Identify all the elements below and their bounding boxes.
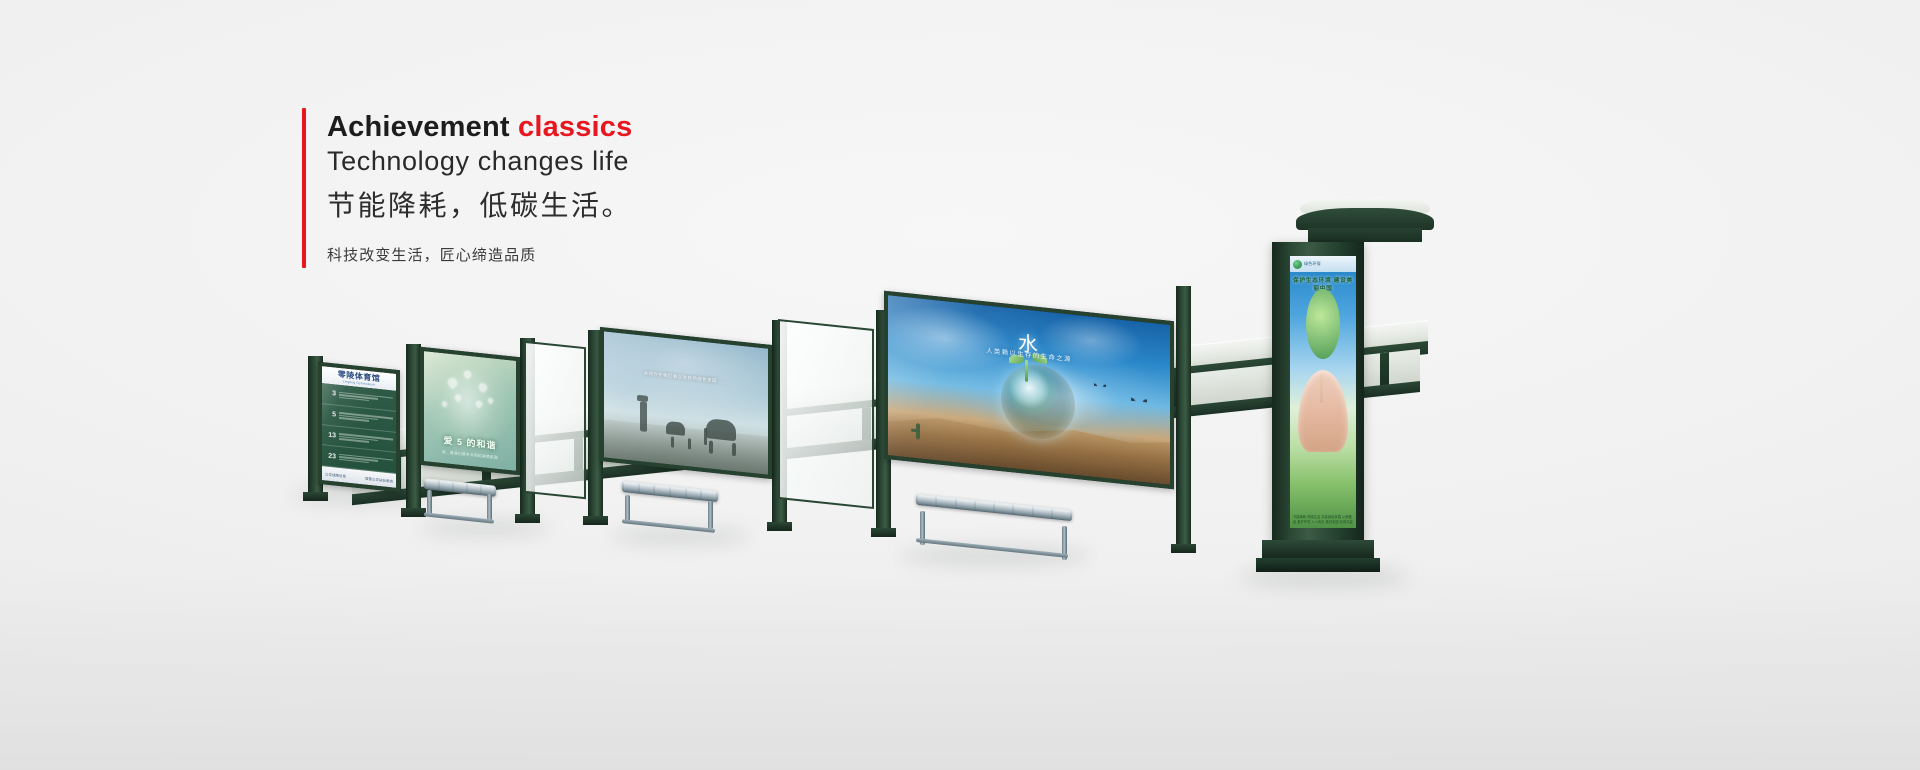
route-stops-bars [339, 392, 393, 404]
elephant-trunk [704, 428, 707, 445]
giraffe-silhouette [640, 401, 647, 432]
post-base-7 [1171, 544, 1196, 553]
bench-slats [918, 495, 1070, 520]
elephant-legs [732, 443, 736, 456]
info-tower-brand: 绿色环保 [1304, 261, 1321, 267]
post-base-5 [767, 522, 792, 531]
bench-leg [487, 494, 492, 520]
route-number: 3 [325, 390, 336, 398]
route-stops-bars [339, 412, 393, 424]
post-base-4 [583, 516, 608, 525]
schedule-route-list: 3 5 13 23 [322, 383, 396, 474]
support-post-2 [406, 344, 421, 512]
camel-legs [688, 438, 691, 449]
glass-wall-1 [524, 341, 586, 500]
schedule-footer-right: 智慧公交站台系统 [365, 475, 393, 483]
ground-shadow-mid2 [610, 528, 750, 545]
info-tower-footer-text: 节能降耗 低碳生活 共建绿色家园 从我做起 爱护环境 人人有责 美好家园 你我共… [1293, 515, 1353, 524]
info-tower-brand-bar: 绿色环保 [1290, 256, 1356, 272]
tree-canopy [1306, 289, 1340, 360]
support-post-7 [1176, 286, 1191, 548]
bench-seat [622, 481, 718, 502]
ad-panel-c[interactable]: 共同守护我们赖以生存的绿色家园 …… [600, 327, 772, 479]
leaf-logo-icon [1293, 260, 1302, 269]
route-stops-bars [339, 454, 393, 466]
route-number: 13 [325, 431, 336, 439]
info-tower-base-upper [1262, 540, 1374, 560]
camel-legs [671, 437, 674, 448]
post-base-1 [303, 492, 328, 501]
post-base-6 [871, 528, 896, 537]
bus-shelter-render: 零陵体育馆 Lingling Gymnasium 3 5 13 23 公交线路信… [0, 0, 1920, 770]
tower-roof-cap-neck [1308, 228, 1422, 242]
post-base-3 [515, 514, 540, 523]
sprout-stem [1025, 359, 1028, 381]
ad-panel-d[interactable]: 水 人类赖以生存的生命之源 [884, 291, 1174, 489]
elephant-legs [709, 441, 713, 454]
route-number: 5 [325, 411, 336, 419]
info-tower-display[interactable]: 绿色环保 保护生态环境 建设美丽中国 节能降耗 低碳生活 共建绿色家园 从我做起… [1290, 256, 1356, 528]
info-tower-base-lower [1256, 558, 1380, 572]
tower-roof-cap-body [1296, 208, 1434, 230]
post-base-2 [401, 508, 426, 517]
camel-silhouette [666, 421, 685, 436]
glass-wall-2 [778, 319, 874, 509]
route-number: 23 [325, 452, 336, 460]
schedule-board[interactable]: 零陵体育馆 Lingling Gymnasium 3 5 13 23 公交线路信… [318, 362, 400, 493]
route-stops-bars [339, 433, 393, 445]
bench-leg [708, 501, 713, 529]
ad-panel-b[interactable]: 爱 5 的和谐 爱，是我们携手共同的美丽家园 [420, 347, 520, 476]
bench-slats [624, 482, 716, 501]
schedule-footer-left: 公交线路信息 [325, 471, 346, 478]
bench-seat [916, 494, 1072, 521]
